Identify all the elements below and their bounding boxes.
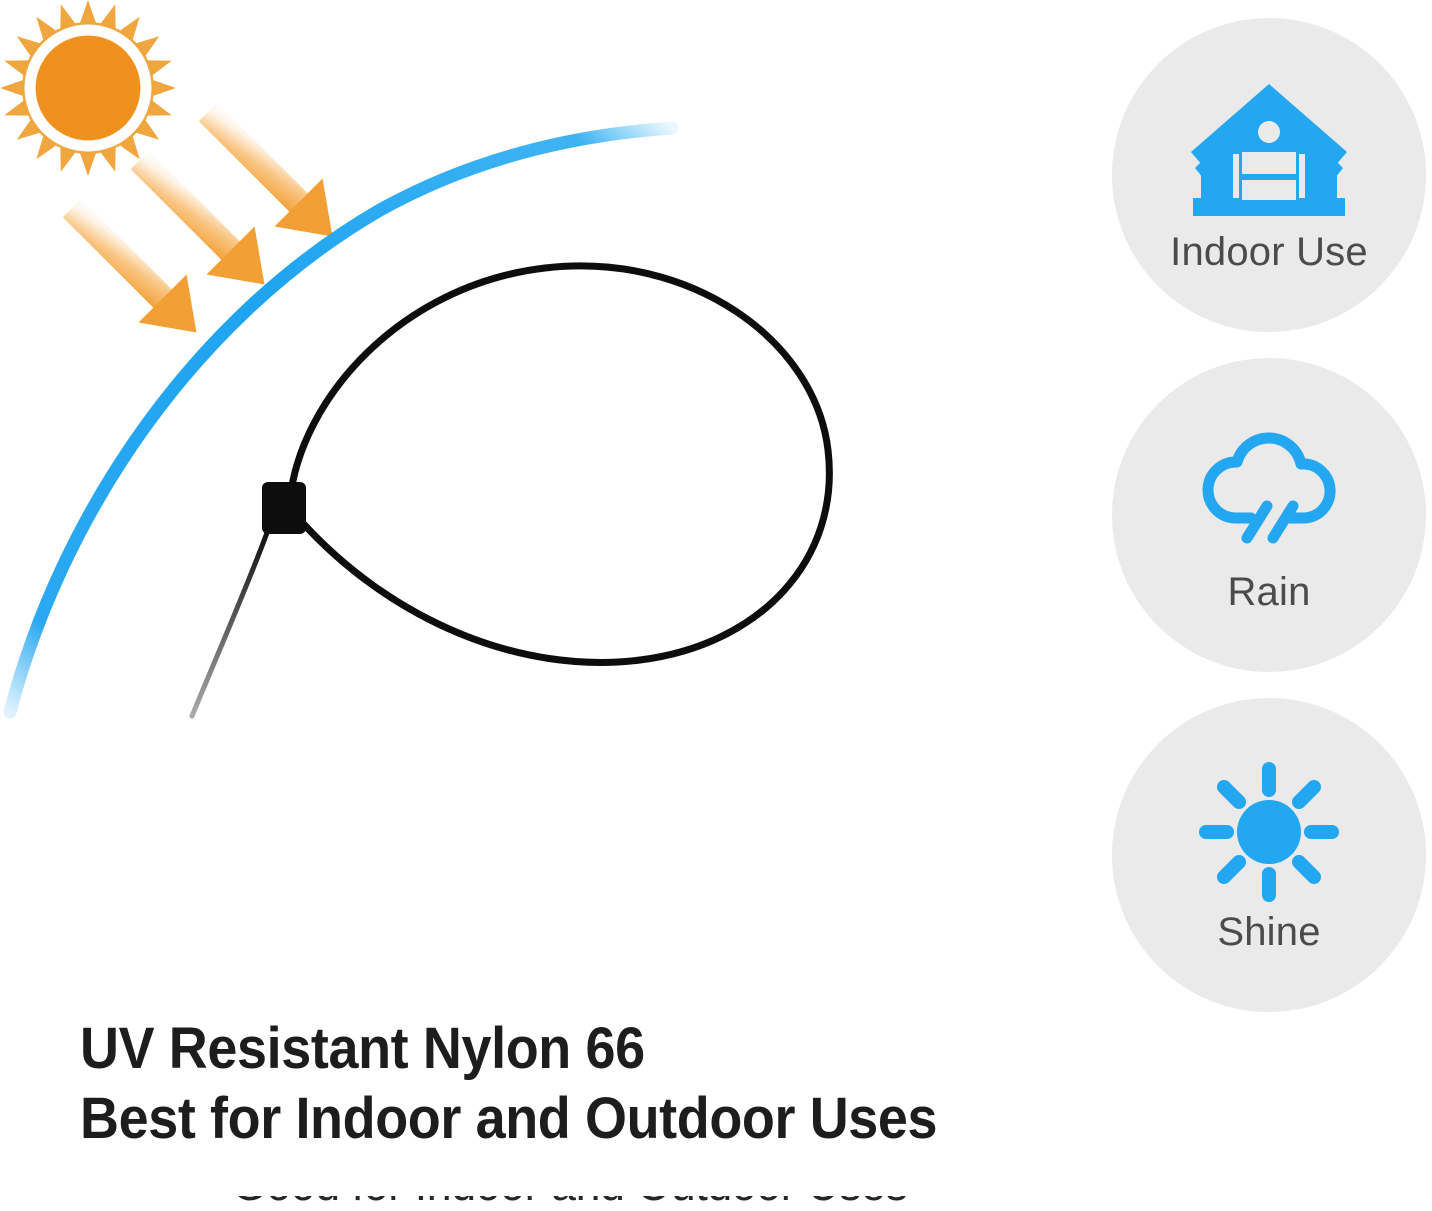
uv-shield-arc-icon [10, 128, 672, 712]
feature-badge-indoor-use[interactable]: Indoor Use [1112, 18, 1426, 332]
feature-badge-rain[interactable]: Rain [1112, 358, 1426, 672]
sun-burst-icon [0, 0, 176, 176]
headline-line-2: Best for Indoor and Outdoor Uses [80, 1084, 991, 1154]
feature-label: Shine [1217, 911, 1320, 953]
infographic-page: Indoor Use Rain [0, 0, 1432, 1211]
cable-tie-icon [192, 266, 829, 716]
house-icon [1189, 77, 1349, 227]
sun-shine-icon [1189, 757, 1349, 907]
illustration-panel [0, 0, 1090, 1000]
feature-badge-column: Indoor Use Rain [1108, 0, 1432, 1020]
feature-badge-shine[interactable]: Shine [1112, 698, 1426, 1012]
rain-cloud-icon [1189, 417, 1349, 567]
headline-line-3: Good for Indoor and Outdoor Uses [232, 1196, 1069, 1211]
headline-block: UV Resistant Nylon 66 Best for Indoor an… [80, 1014, 1060, 1154]
headline-clipped-line: Good for Indoor and Outdoor Uses [232, 1196, 1132, 1211]
feature-label: Rain [1227, 571, 1310, 613]
headline-line-1: UV Resistant Nylon 66 [80, 1014, 991, 1084]
feature-label: Indoor Use [1170, 231, 1368, 273]
uv-resistant-cable-tie-scene [0, 0, 1090, 1000]
